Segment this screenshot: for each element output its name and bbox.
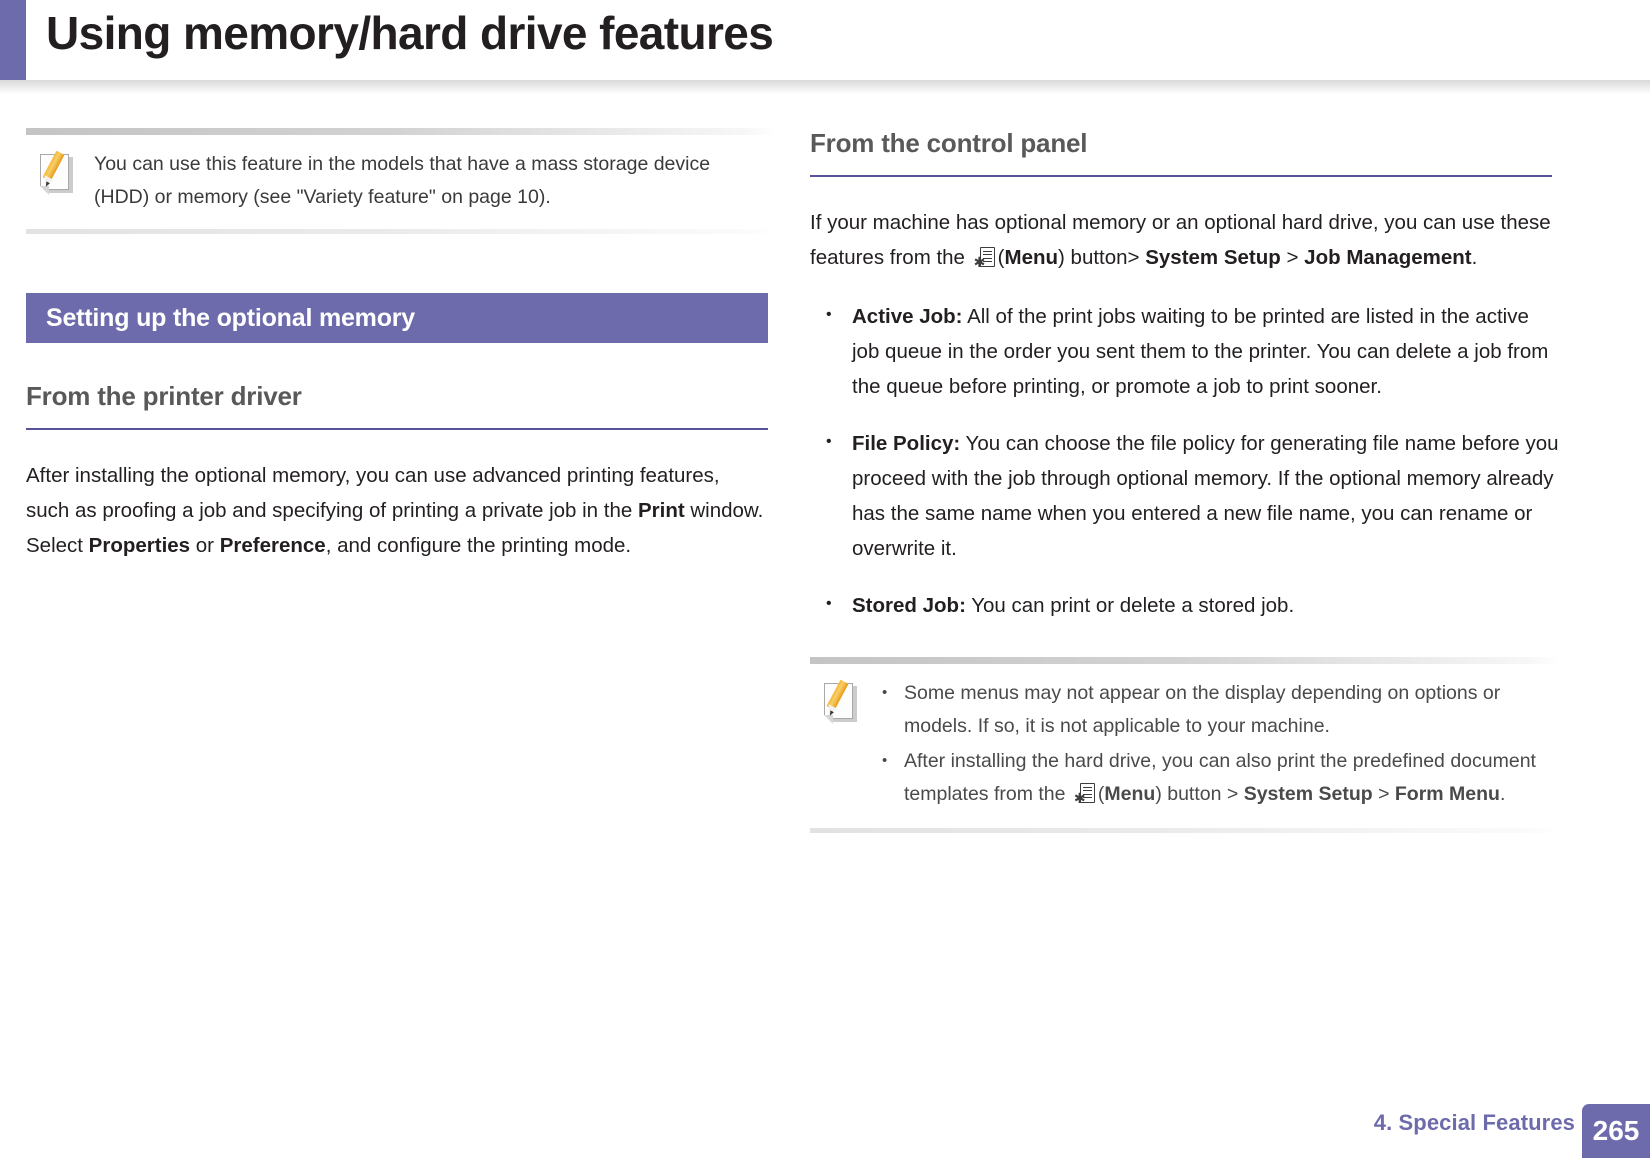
text-bold-properties: Properties [89, 534, 190, 557]
header-accent-bar [0, 0, 26, 92]
text-bold-form-menu: Form Menu [1395, 783, 1500, 805]
note-list-item: Some menus may not appear on the display… [878, 677, 1556, 743]
left-column: You can use this feature in the models t… [26, 128, 776, 563]
subheading-rule [26, 428, 768, 430]
note-list-item: After installing the hard drive, you can… [878, 745, 1556, 811]
text-run: ( [998, 246, 1005, 269]
bottom-note-box: Some menus may not appear on the display… [810, 657, 1560, 833]
text-bold-preference: Preference [220, 534, 326, 557]
text-bold-menu: Menu [1104, 783, 1155, 805]
footer-chapter-label: 4. Special Features [1374, 1110, 1575, 1136]
list-item-text: You can print or delete a stored job. [966, 594, 1294, 617]
list-item-term: File Policy: [852, 432, 960, 455]
text-bold-job-management: Job Management [1304, 246, 1471, 269]
footer-page-number: 265 [1582, 1104, 1650, 1158]
paragraph-printer-driver: After installing the optional memory, yo… [26, 458, 768, 563]
text-run: . [1472, 246, 1478, 269]
text-bold-system-setup: System Setup [1145, 246, 1281, 269]
header-divider-shadow [0, 80, 1650, 94]
text-run: ) button> [1058, 246, 1145, 269]
subheading-rule [810, 175, 1552, 177]
control-panel-menu-icon: ✱ [974, 247, 995, 269]
text-run: , and configure the printing mode. [326, 534, 631, 557]
list-item: Stored Job: You can print or delete a st… [810, 588, 1560, 623]
page-footer: 4. Special Features 265 [0, 1098, 1650, 1158]
section-banner-optional-memory: Setting up the optional memory [26, 293, 768, 343]
subheading-control-panel: From the control panel [810, 128, 1560, 159]
right-column: From the control panel If your machine h… [810, 128, 1560, 837]
list-item-term: Active Job: [852, 305, 963, 328]
section-banner-label: Setting up the optional memory [46, 304, 415, 333]
control-panel-menu-icon: ✱ [1074, 783, 1095, 805]
note-pencil-icon [38, 152, 78, 196]
top-note-text: You can use this feature in the models t… [94, 148, 739, 214]
text-bold-system-setup: System Setup [1244, 783, 1373, 805]
text-run: After installing the optional memory, yo… [26, 464, 720, 522]
control-panel-feature-list: Active Job: All of the print jobs waitin… [810, 299, 1560, 623]
text-run: . [1500, 783, 1505, 805]
text-run: or [190, 534, 220, 557]
list-item-term: Stored Job: [852, 594, 966, 617]
text-bold-menu: Menu [1005, 246, 1059, 269]
list-item: Active Job: All of the print jobs waitin… [810, 299, 1560, 404]
text-run: ) button > [1155, 783, 1243, 805]
text-run: > [1373, 783, 1395, 805]
text-bold-print: Print [638, 499, 685, 522]
page-title: Using memory/hard drive features [46, 2, 773, 64]
subheading-printer-driver: From the printer driver [26, 381, 776, 412]
bottom-note-list: Some menus may not appear on the display… [878, 677, 1556, 813]
text-run: > [1281, 246, 1304, 269]
note-pencil-icon [822, 681, 862, 725]
paragraph-control-panel-intro: If your machine has optional memory or a… [810, 205, 1552, 275]
list-item: File Policy: You can choose the file pol… [810, 426, 1560, 566]
top-note-box: You can use this feature in the models t… [26, 128, 776, 234]
page-header: Using memory/hard drive features [0, 0, 1650, 95]
